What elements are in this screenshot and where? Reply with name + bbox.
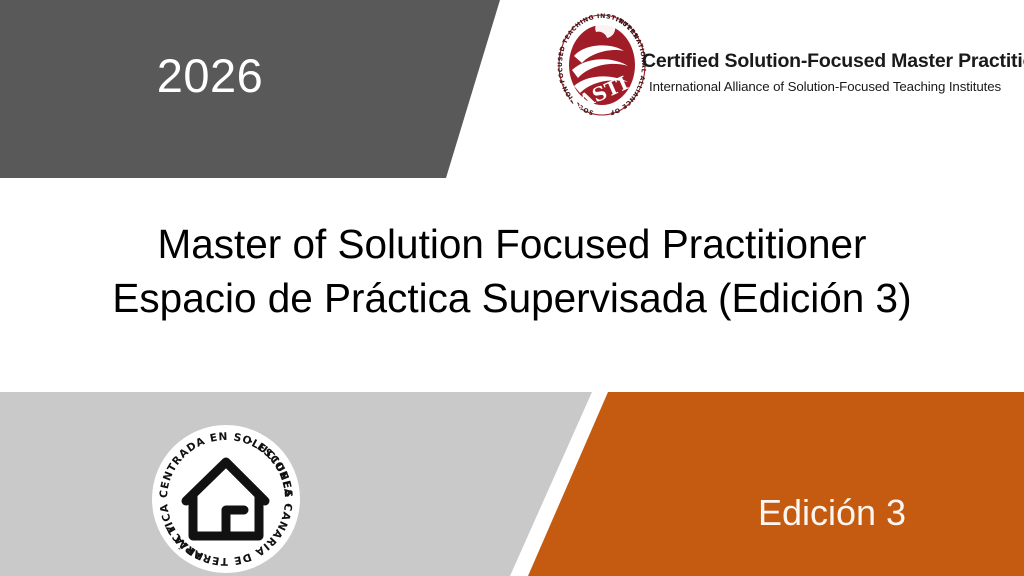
iasti-logo-block: INTERNATIONAL ALLIANCE OF SOLUTION-FOCUS… bbox=[552, 6, 972, 124]
escuela-canaria-logo: · ESCUELA CANARIA DE TERAPIA Y PRÁCTICA … bbox=[151, 424, 301, 574]
year-label: 2026 bbox=[0, 52, 420, 99]
presentation-slide: 2026 INTERNATIONAL ALLIANCE OF bbox=[0, 0, 1024, 576]
bottom-orange-banner bbox=[528, 392, 1024, 576]
iasti-seal-icon: INTERNATIONAL ALLIANCE OF SOLUTION-FOCUS… bbox=[552, 8, 652, 122]
edition-label: Edición 3 bbox=[640, 495, 1024, 531]
iasti-certification-title: Certified Solution-Focused Master Practi… bbox=[642, 50, 972, 72]
iasti-organization-name: International Alliance of Solution-Focus… bbox=[649, 79, 972, 95]
page-title: Master of Solution Focused Practitioner … bbox=[0, 218, 1024, 326]
title-line-2: Espacio de Práctica Supervisada (Edición… bbox=[0, 272, 1024, 326]
title-line-1: Master of Solution Focused Practitioner bbox=[0, 218, 1024, 272]
iasti-text-block: Certified Solution-Focused Master Practi… bbox=[642, 50, 972, 95]
